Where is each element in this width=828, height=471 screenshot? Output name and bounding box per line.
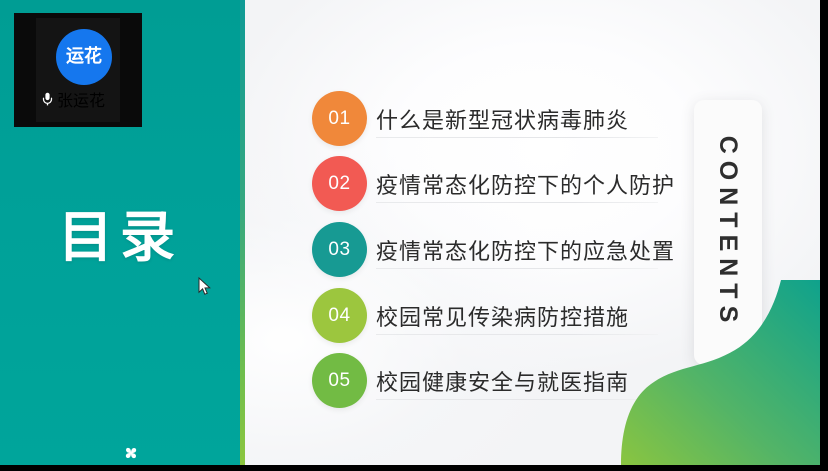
toc-item-label: 疫情常态化防控下的个人防护 bbox=[376, 168, 675, 200]
avatar: 运花 bbox=[56, 29, 112, 85]
toc-item-divider bbox=[376, 137, 658, 138]
presentation-screen: 目录 运花 bbox=[0, 0, 828, 471]
toc-number-badge: 05 bbox=[312, 353, 367, 408]
toc-number-badge: 03 bbox=[312, 222, 367, 277]
participant-name-row: 张运花 bbox=[42, 91, 105, 107]
microphone-icon[interactable] bbox=[42, 92, 53, 106]
pinwheel-logo-icon bbox=[122, 444, 140, 462]
video-participant-tile[interactable]: 运花 张运花 bbox=[14, 13, 142, 127]
chrome-right-bar bbox=[820, 0, 828, 471]
toc-item-label: 什么是新型冠状病毒肺炎 bbox=[376, 103, 629, 135]
toc-number-badge: 04 bbox=[312, 288, 367, 343]
decorative-gradient-blob bbox=[585, 280, 820, 465]
toc-number-badge: 02 bbox=[312, 156, 367, 211]
toc-number-badge: 01 bbox=[312, 91, 367, 146]
slide-canvas: 目录 运花 bbox=[0, 0, 820, 465]
toc-item-divider bbox=[376, 268, 658, 269]
page-title: 目录 bbox=[0, 205, 240, 269]
toc-item-divider bbox=[376, 202, 658, 203]
participant-name: 张运花 bbox=[57, 87, 105, 111]
mouse-cursor bbox=[198, 277, 212, 296]
panel-edge-gradient-strip bbox=[240, 0, 245, 465]
toc-item-label: 疫情常态化防控下的应急处置 bbox=[376, 234, 675, 266]
chrome-bottom-bar bbox=[0, 465, 828, 471]
